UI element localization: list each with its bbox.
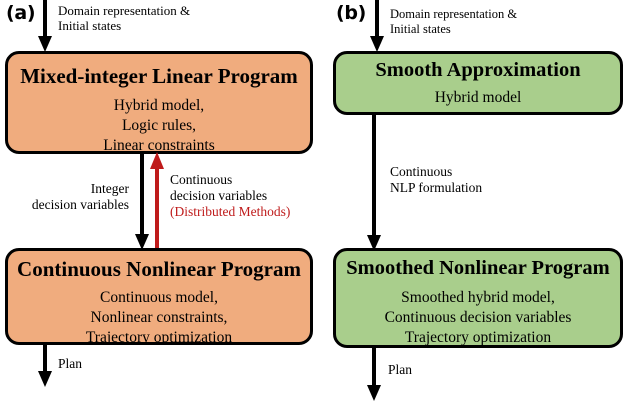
node-body: Hybrid model, Logic rules, Linear constr… [103, 96, 214, 154]
node-body-line-1: Hybrid model [435, 88, 522, 108]
down-edge-caption-b: Continuous NLP formulation [390, 164, 482, 196]
output-caption-b: Plan [388, 362, 412, 378]
node-body: Hybrid model [435, 88, 522, 108]
node-body-line-1: Smoothed hybrid model, [385, 288, 572, 308]
down-edge-caption-b-line2: NLP formulation [390, 180, 482, 196]
node-body-line-2: Continuous decision variables [385, 308, 572, 328]
input-caption-b: Domain representation & Initial states [390, 7, 517, 37]
input-arrow-b [368, 0, 386, 53]
down-edge-caption-b-line1: Continuous [390, 164, 482, 180]
input-caption-b-line2: Initial states [390, 22, 517, 37]
up-edge-caption-a-distributed-methods: (Distributed Methods) [170, 204, 290, 220]
input-caption-a: Domain representation & Initial states [58, 3, 190, 34]
up-arrow-a-distributed [148, 152, 166, 251]
node-body-line-2: Nonlinear constraints, [86, 308, 232, 328]
panel-label-a: (a) [6, 2, 35, 24]
node-body-line-2: Logic rules, [103, 116, 214, 136]
panel-label-b: (b) [336, 2, 366, 24]
input-arrow-a [36, 0, 54, 53]
input-caption-a-line1: Domain representation & [58, 3, 190, 18]
node-body-line-1: Hybrid model, [103, 96, 214, 116]
node-continuous-nonlinear-program[interactable]: Continuous Nonlinear Program Continuous … [5, 248, 313, 345]
down-arrow-b [365, 114, 383, 252]
node-title: Smoothed Nonlinear Program [346, 257, 609, 280]
up-edge-caption-a: Continuous decision variables (Distribut… [170, 172, 290, 220]
node-title: Mixed-integer Linear Program [20, 64, 298, 89]
node-body: Continuous model, Nonlinear constraints,… [86, 288, 232, 345]
down-edge-caption-a-line1: Integer [11, 181, 129, 197]
node-smoothed-nonlinear-program[interactable]: Smoothed Nonlinear Program Smoothed hybr… [333, 248, 623, 348]
down-edge-caption-a-line2: decision variables [11, 197, 129, 213]
output-arrow-b [365, 347, 383, 402]
input-caption-b-line1: Domain representation & [390, 7, 517, 22]
node-body-line-1: Continuous model, [86, 288, 232, 308]
output-caption-a: Plan [58, 356, 82, 372]
node-mixed-integer-linear-program[interactable]: Mixed-integer Linear Program Hybrid mode… [5, 51, 313, 154]
node-body: Smoothed hybrid model, Continuous decisi… [385, 288, 572, 348]
figure-canvas: (a) Domain representation & Initial stat… [0, 0, 628, 402]
node-title: Smooth Approximation [375, 59, 580, 82]
up-edge-caption-a-line2: decision variables [170, 188, 290, 204]
down-edge-caption-a: Integer decision variables [11, 181, 129, 213]
node-body-line-3: Trajectory optimization [86, 328, 232, 345]
node-body-line-3: Trajectory optimization [385, 328, 572, 348]
node-title: Continuous Nonlinear Program [17, 257, 301, 282]
output-arrow-a [36, 344, 54, 388]
node-smooth-approximation[interactable]: Smooth Approximation Hybrid model [333, 51, 623, 115]
up-edge-caption-a-line1: Continuous [170, 172, 290, 188]
input-caption-a-line2: Initial states [58, 18, 190, 33]
